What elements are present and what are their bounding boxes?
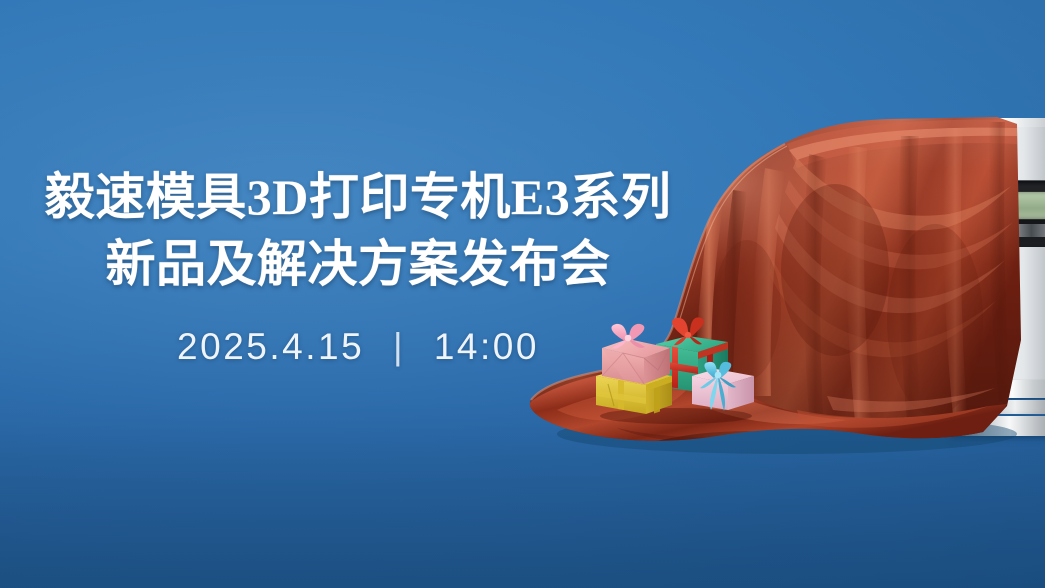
event-date: 2025.4.15 bbox=[177, 326, 364, 367]
page-title-line-1: 毅速模具3D打印专机E3系列 bbox=[0, 168, 716, 226]
datetime-separator: | bbox=[377, 326, 421, 368]
event-time: 14:00 bbox=[434, 326, 539, 367]
event-datetime: 2025.4.15 | 14:00 bbox=[0, 326, 716, 368]
event-poster: 毅速模具3D打印专机E3系列 新品及解决方案发布会 2025.4.15 | 14… bbox=[0, 0, 1045, 588]
page-title-line-2: 新品及解决方案发布会 bbox=[0, 235, 716, 293]
title-block: 毅速模具3D打印专机E3系列 新品及解决方案发布会 2025.4.15 | 14… bbox=[0, 168, 716, 368]
